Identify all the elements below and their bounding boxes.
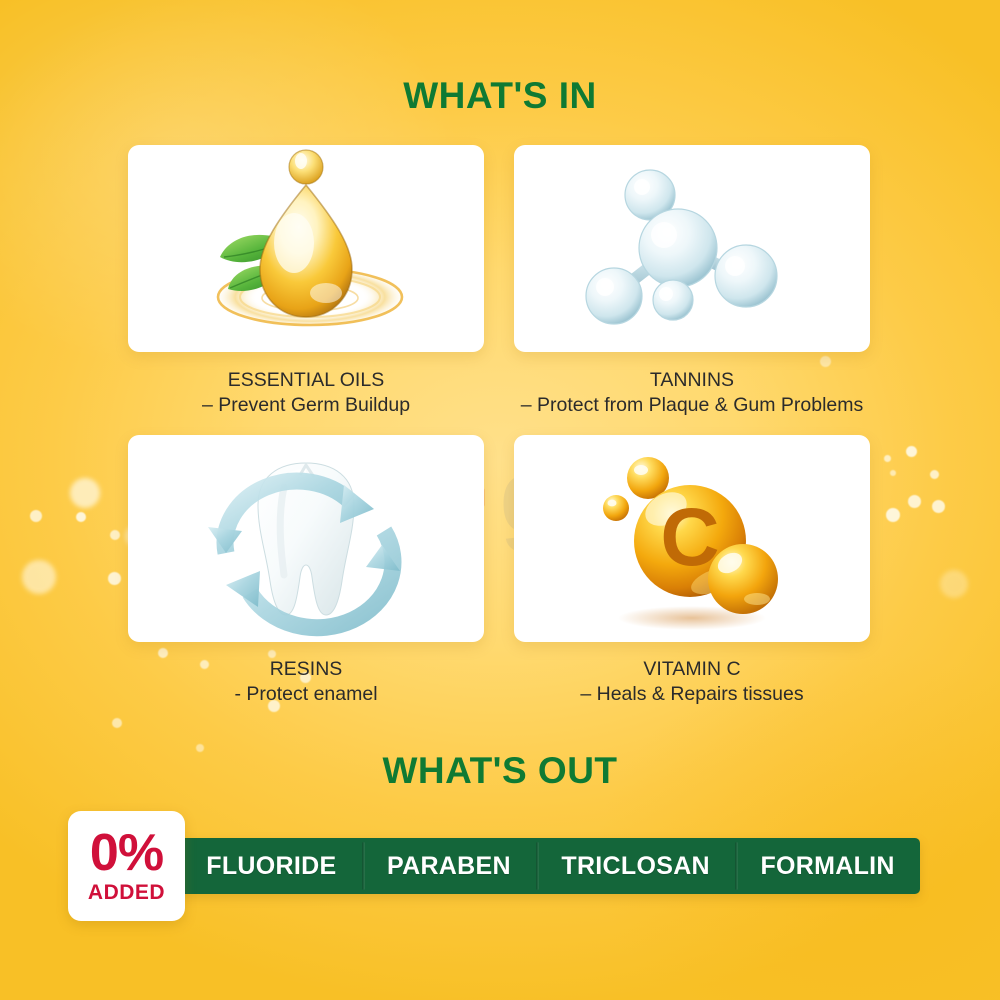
zero-percent-value: 0%: [90, 828, 163, 878]
ingredient-caption-vitamin-c: VITAMIN C – Heals & Repairs tissues: [514, 657, 870, 707]
ingredient-caption-essential-oils: ESSENTIAL OILS – Prevent Germ Buildup: [128, 368, 484, 418]
excluded-item-triclosan: TRICLOSAN: [536, 838, 735, 894]
ingredient-desc: – Prevent Germ Buildup: [128, 393, 484, 418]
oil-droplet-with-leaves-icon: [128, 145, 484, 352]
excluded-item-paraben: PARABEN: [362, 838, 536, 894]
ingredient-card-resins: [128, 435, 484, 642]
excluded-ingredients-banner: FLUORIDE PARABEN TRICLOSAN FORMALIN: [103, 838, 920, 894]
ingredient-name: VITAMIN C: [514, 657, 870, 682]
vitamin-c-capsule-icon: C: [514, 435, 870, 642]
molecule-icon: [514, 145, 870, 352]
tooth-with-arrows-icon: [128, 435, 484, 642]
whats-out-heading: WHAT'S OUT: [0, 750, 1000, 792]
ingredient-desc: - Protect enamel: [128, 682, 484, 707]
ingredient-desc: – Heals & Repairs tissues: [514, 682, 870, 707]
zero-percent-label: ADDED: [88, 881, 165, 905]
ingredient-card-tannins: [514, 145, 870, 352]
zero-percent-added-badge: 0% ADDED: [68, 811, 185, 921]
ingredient-desc: – Protect from Plaque & Gum Problems: [514, 393, 870, 418]
ingredient-name: TANNINS: [514, 368, 870, 393]
ingredient-name: RESINS: [128, 657, 484, 682]
excluded-item-formalin: FORMALIN: [735, 838, 920, 894]
ingredient-caption-resins: RESINS - Protect enamel: [128, 657, 484, 707]
ingredient-card-vitamin-c: C: [514, 435, 870, 642]
ingredient-caption-tannins: TANNINS – Protect from Plaque & Gum Prob…: [514, 368, 870, 418]
ingredient-card-essential-oils: [128, 145, 484, 352]
ingredient-name: ESSENTIAL OILS: [128, 368, 484, 393]
whats-in-heading: WHAT'S IN: [0, 75, 1000, 117]
